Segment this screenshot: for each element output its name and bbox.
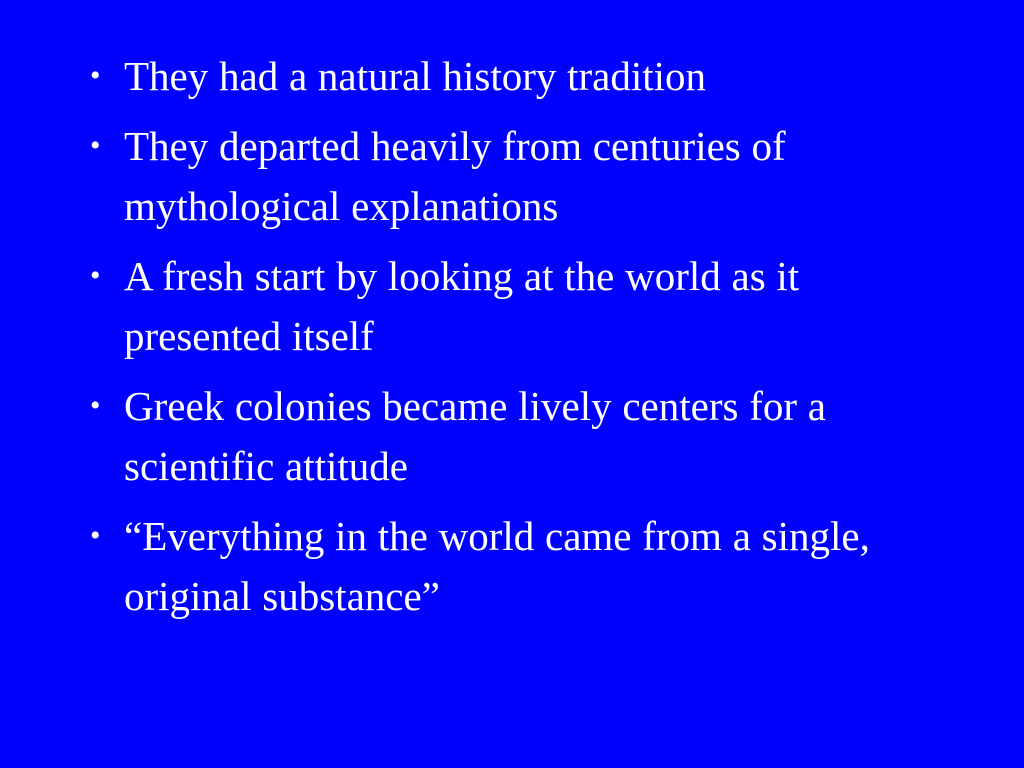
bullet-point-icon: •: [90, 46, 114, 106]
bullet-point-icon: •: [90, 506, 114, 566]
list-item[interactable]: • “Everything in the world came from a s…: [88, 506, 944, 626]
list-item-text: They departed heavily from centuries of …: [124, 116, 944, 236]
list-item[interactable]: • They departed heavily from centuries o…: [88, 116, 944, 236]
body-text-placeholder: • They had a natural history tradition •…: [88, 46, 944, 626]
bullet-point-icon: •: [90, 376, 114, 436]
list-item[interactable]: • They had a natural history tradition: [88, 46, 944, 106]
list-item[interactable]: • A fresh start by looking at the world …: [88, 246, 944, 366]
list-item-text: Greek colonies became lively centers for…: [124, 376, 944, 496]
list-item[interactable]: • Greek colonies became lively centers f…: [88, 376, 944, 496]
list-item-text: They had a natural history tradition: [124, 46, 944, 106]
bullet-point-icon: •: [90, 116, 114, 176]
bullet-list: • They had a natural history tradition •…: [88, 46, 944, 626]
list-item-text: “Everything in the world came from a sin…: [124, 506, 944, 626]
bullet-point-icon: •: [90, 246, 114, 306]
list-item-text: A fresh start by looking at the world as…: [124, 246, 944, 366]
slide-canvas: • They had a natural history tradition •…: [0, 0, 1024, 768]
